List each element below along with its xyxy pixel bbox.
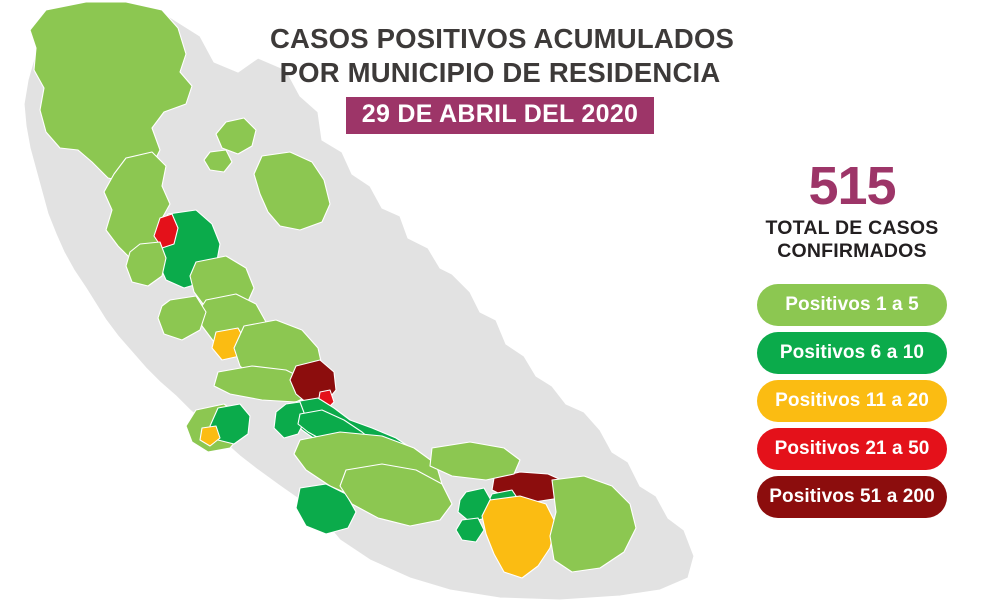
total-cases-label: TOTAL DE CASOS CONFIRMADOS — [716, 217, 988, 263]
summary-panel: 515 TOTAL DE CASOS CONFIRMADOS Positivos… — [716, 160, 988, 518]
legend-item-21-50[interactable]: Positivos 21 a 50 — [757, 428, 947, 470]
legend: Positivos 1 a 5 Positivos 6 a 10 Positiv… — [716, 284, 988, 518]
total-cases-value: 515 — [716, 160, 988, 213]
total-cases-label-line-2: CONFIRMADOS — [716, 240, 988, 263]
page-title: CASOS POSITIVOS ACUMULADOS POR MUNICIPIO… — [270, 22, 730, 134]
legend-item-1-5[interactable]: Positivos 1 a 5 — [757, 284, 947, 326]
title-line-1: CASOS POSITIVOS ACUMULADOS — [270, 22, 730, 56]
legend-item-6-10[interactable]: Positivos 6 a 10 — [757, 332, 947, 374]
title-line-2: POR MUNICIPIO DE RESIDENCIA — [270, 56, 730, 90]
total-cases-label-line-1: TOTAL DE CASOS — [716, 217, 988, 240]
legend-item-51-200[interactable]: Positivos 51 a 200 — [757, 476, 947, 518]
date-banner: 29 DE ABRIL DEL 2020 — [346, 97, 654, 134]
legend-item-11-20[interactable]: Positivos 11 a 20 — [757, 380, 947, 422]
